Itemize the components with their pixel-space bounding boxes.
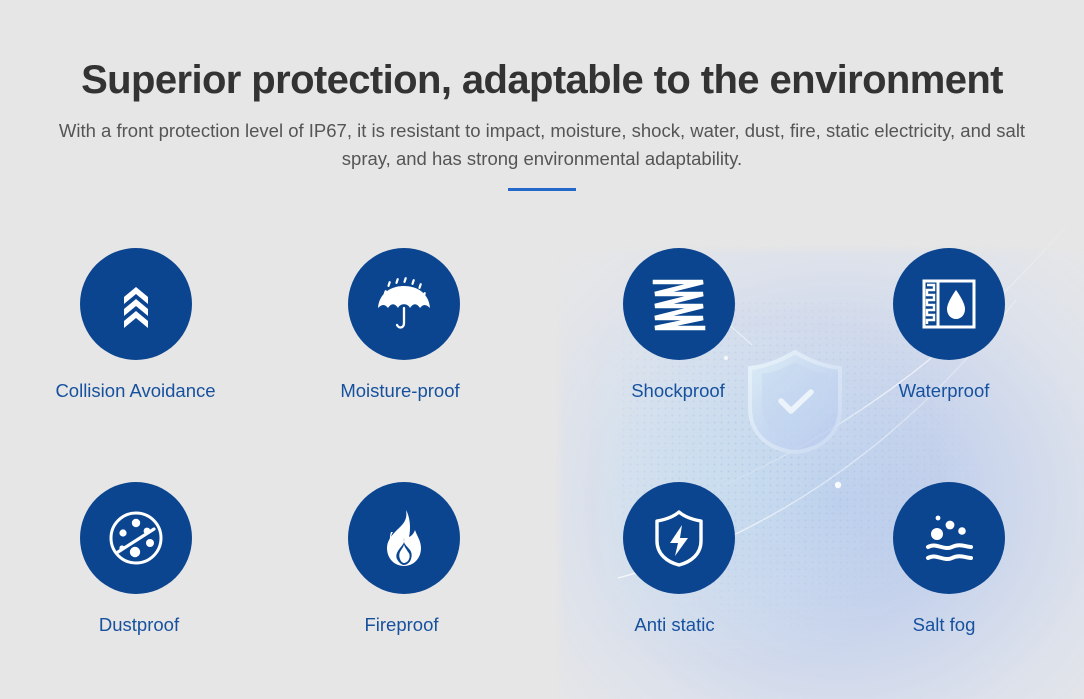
badge-fireproof [348, 482, 460, 594]
bubbles-waves-icon [918, 509, 980, 567]
shield-bolt-icon [650, 508, 708, 568]
feature-item-dustproof[interactable]: Dustproof [0, 482, 271, 635]
flame-icon [377, 508, 431, 568]
badge-moisture-proof [348, 248, 460, 360]
spring-zigzag-icon [649, 275, 709, 333]
page-title: Superior protection, adaptable to the en… [0, 58, 1084, 103]
feature-label: Waterproof [899, 382, 990, 401]
dust-particles-slash-icon [105, 507, 167, 569]
feature-label: Dustproof [99, 616, 179, 635]
feature-item-anti-static[interactable]: Anti static [542, 482, 813, 635]
umbrella-rain-icon [373, 275, 435, 333]
feature-item-salt-fog[interactable]: Salt fog [813, 482, 1084, 635]
accent-underline [508, 188, 576, 191]
badge-shockproof [623, 248, 735, 360]
badge-dustproof [80, 482, 192, 594]
water-droplet-panel-icon [920, 276, 978, 332]
feature-row-1: Collision Avoidance [0, 248, 1084, 401]
feature-item-waterproof[interactable]: Waterproof [813, 248, 1084, 401]
badge-salt-fog [893, 482, 1005, 594]
feature-label: Fireproof [364, 616, 438, 635]
feature-grid: Collision Avoidance [0, 248, 1084, 634]
feature-label: Moisture-proof [340, 382, 459, 401]
badge-collision-avoidance [80, 248, 192, 360]
page-header: Superior protection, adaptable to the en… [0, 0, 1084, 191]
feature-item-collision-avoidance[interactable]: Collision Avoidance [0, 248, 271, 401]
page-subtitle: With a front protection level of IP67, i… [32, 117, 1052, 174]
chevron-stack-icon [108, 276, 164, 332]
feature-item-fireproof[interactable]: Fireproof [271, 482, 542, 635]
badge-anti-static [623, 482, 735, 594]
feature-label: Shockproof [631, 382, 725, 401]
feature-label: Collision Avoidance [55, 382, 215, 401]
feature-row-2: Dustproof Fireproof Anti static [0, 482, 1084, 635]
feature-label: Anti static [634, 616, 714, 635]
feature-item-moisture-proof[interactable]: Moisture-proof [271, 248, 542, 401]
feature-item-shockproof[interactable]: Shockproof [542, 248, 813, 401]
feature-label: Salt fog [913, 616, 976, 635]
badge-waterproof [893, 248, 1005, 360]
